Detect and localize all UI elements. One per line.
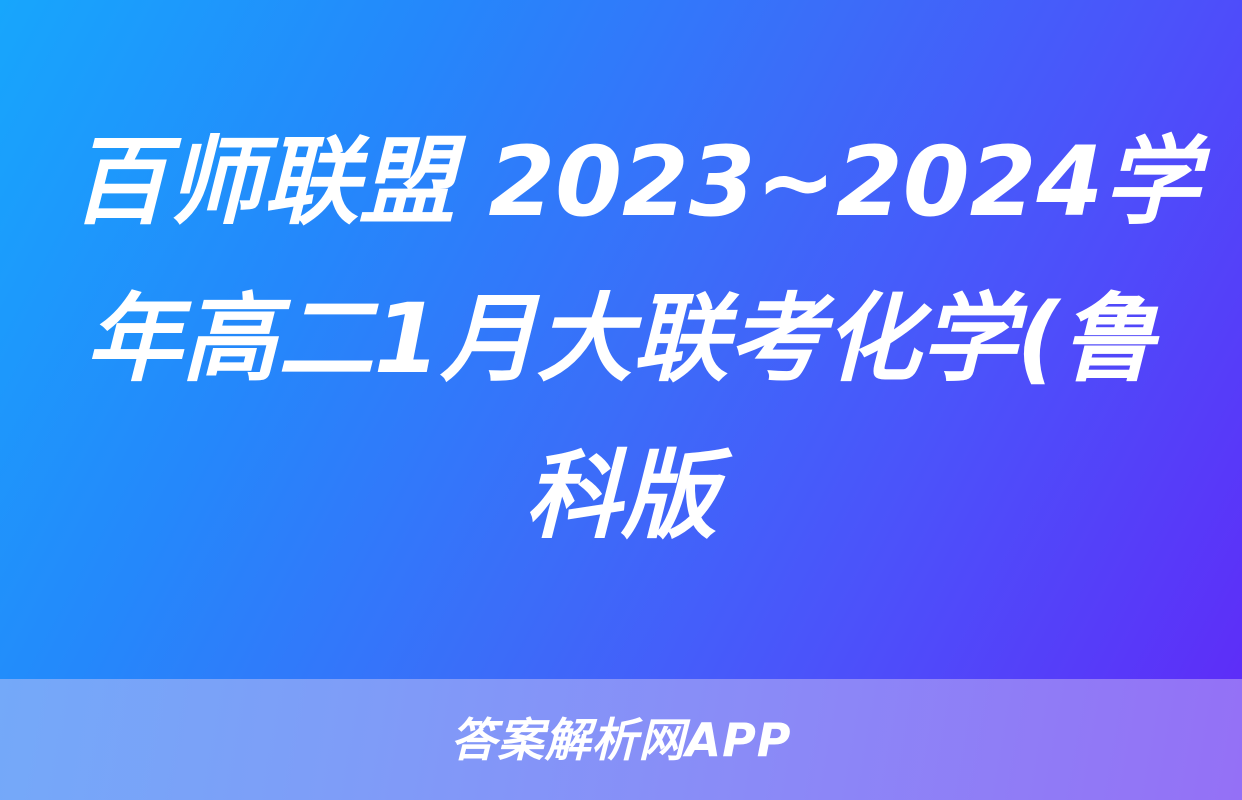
title-line-1: 百师联盟 2023~2024学 xyxy=(71,104,1171,261)
title-line-2: 年高二1月大联考化学(鲁 xyxy=(71,261,1171,418)
title-area: 百师联盟 2023~2024学 年高二1月大联考化学(鲁 科版 xyxy=(0,0,1242,679)
watermark-text: 答案解析网APP xyxy=(450,717,791,763)
footer-watermark-band: 答案解析网APP xyxy=(0,679,1242,800)
title-line-3: 科版 xyxy=(71,418,1171,575)
poster-canvas: 百师联盟 2023~2024学 年高二1月大联考化学(鲁 科版 答案解析网APP xyxy=(0,0,1242,800)
page-title: 百师联盟 2023~2024学 年高二1月大联考化学(鲁 科版 xyxy=(71,104,1171,575)
